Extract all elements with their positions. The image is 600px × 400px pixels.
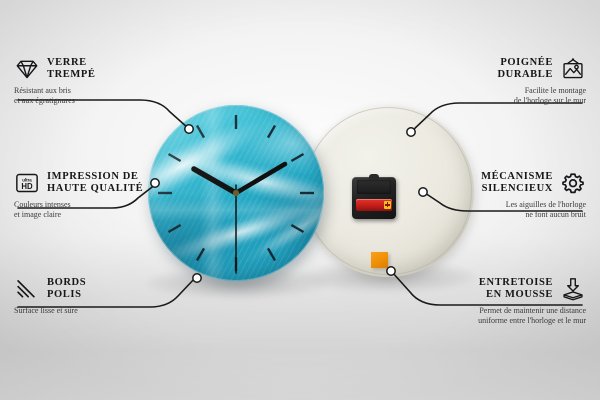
feature-title: VERRE TREMPÉ: [47, 57, 96, 82]
feature-header: MÉCANISME SILENCIEUX: [376, 170, 586, 196]
feature-description: Résistant aux bris et aux égratignures: [14, 86, 184, 106]
feature-title: ENTRETOISE EN MOUSSE: [479, 277, 553, 302]
feature-title: MÉCANISME SILENCIEUX: [481, 171, 553, 196]
feature-title: IMPRESSION DE HAUTE QUALITÉ: [47, 171, 143, 196]
feature-header: POIGNÉE DURABLE: [386, 56, 586, 82]
svg-text:HD: HD: [21, 182, 33, 191]
foam-spacer-part: [371, 252, 388, 268]
foam-spacer-icon: [560, 276, 586, 302]
feature-header: ENTRETOISE EN MOUSSE: [356, 276, 586, 302]
feature-description: Surface lisse et sûre: [14, 306, 184, 316]
feature-entretoise-en-mousse: ENTRETOISE EN MOUSSE Permet de maintenir…: [356, 276, 586, 326]
feature-description: Les aiguilles de l'horloge ne font aucun…: [376, 200, 586, 220]
feature-mecanisme-silencieux: MÉCANISME SILENCIEUX Les aiguilles de l'…: [376, 170, 586, 220]
feature-description: Couleurs intenses et image claire: [14, 200, 199, 220]
gear-icon: [560, 170, 586, 196]
feature-poignee-durable: POIGNÉE DURABLE Facilite le montage de l…: [386, 56, 586, 106]
feature-description: Permet de maintenir une distance uniform…: [356, 306, 586, 326]
diamond-icon: [14, 56, 40, 82]
feature-verre-trempe: VERRE TREMPÉ Résistant aux bris et aux é…: [14, 56, 184, 106]
feature-impression-haute-qualite: ultra HD IMPRESSION DE HAUTE QUALITÉ Cou…: [14, 170, 199, 220]
feature-header: ultra HD IMPRESSION DE HAUTE QUALITÉ: [14, 170, 199, 196]
polished-edges-icon: [14, 276, 40, 302]
product-feature-infographic: VERRE TREMPÉ Résistant aux bris et aux é…: [0, 0, 600, 400]
feature-header: VERRE TREMPÉ: [14, 56, 184, 82]
feature-description: Facilite le montage de l'horloge sur le …: [386, 86, 586, 106]
feature-bords-polis: BORDS POLIS Surface lisse et sûre: [14, 276, 184, 316]
feature-header: BORDS POLIS: [14, 276, 184, 302]
feature-title: BORDS POLIS: [47, 277, 86, 302]
feature-title: POIGNÉE DURABLE: [497, 57, 553, 82]
picture-hanger-icon: [560, 56, 586, 82]
ultra-hd-icon: ultra HD: [14, 170, 40, 196]
